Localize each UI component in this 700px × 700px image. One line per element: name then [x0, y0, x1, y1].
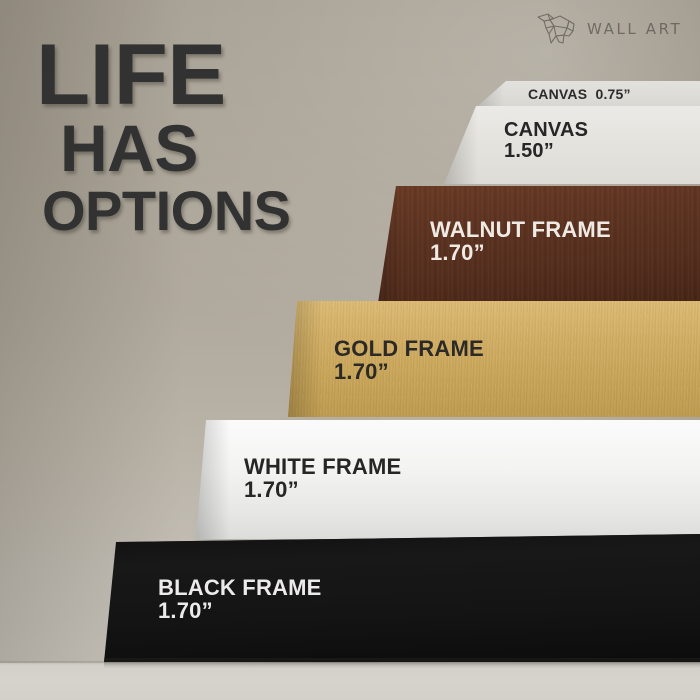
option-label-canvas-150: CANVAS 1.50”: [504, 120, 588, 162]
option-label-black-frame: BLACK FRAME 1.70”: [158, 576, 322, 623]
headline-line-2: HAS: [36, 119, 396, 178]
brand-name: WALL ART: [587, 20, 682, 38]
headline-line-1: LIFE: [36, 40, 407, 111]
option-label-walnut-frame: WALNUT FRAME 1.70”: [430, 218, 611, 265]
option-panel-black-frame[interactable]: BLACK FRAME 1.70”: [104, 534, 700, 662]
page-title: LIFE HAS OPTIONS: [36, 40, 396, 237]
option-panel-white-frame[interactable]: WHITE FRAME 1.70”: [196, 420, 700, 539]
origami-goat-icon: [536, 12, 578, 46]
option-label-canvas-075: CANVAS 0.75”: [528, 87, 631, 102]
option-label-gold-frame: GOLD FRAME 1.70”: [334, 337, 484, 384]
backdrop-floor: [0, 663, 700, 700]
brand-logo: WALL ART: [536, 12, 682, 46]
headline-line-3: OPTIONS: [36, 184, 396, 237]
option-panel-walnut-frame[interactable]: WALNUT FRAME 1.70”: [368, 186, 700, 303]
option-label-white-frame: WHITE FRAME 1.70”: [244, 455, 401, 502]
option-panel-gold-frame[interactable]: GOLD FRAME 1.70”: [288, 301, 700, 417]
black-panel-contact-shadow: [104, 658, 700, 668]
option-panel-canvas-150[interactable]: CANVAS 1.50”: [444, 106, 700, 184]
product-options-infographic: LIFE HAS OPTIONS WALL ART CANVAS 0.75”: [0, 0, 700, 700]
